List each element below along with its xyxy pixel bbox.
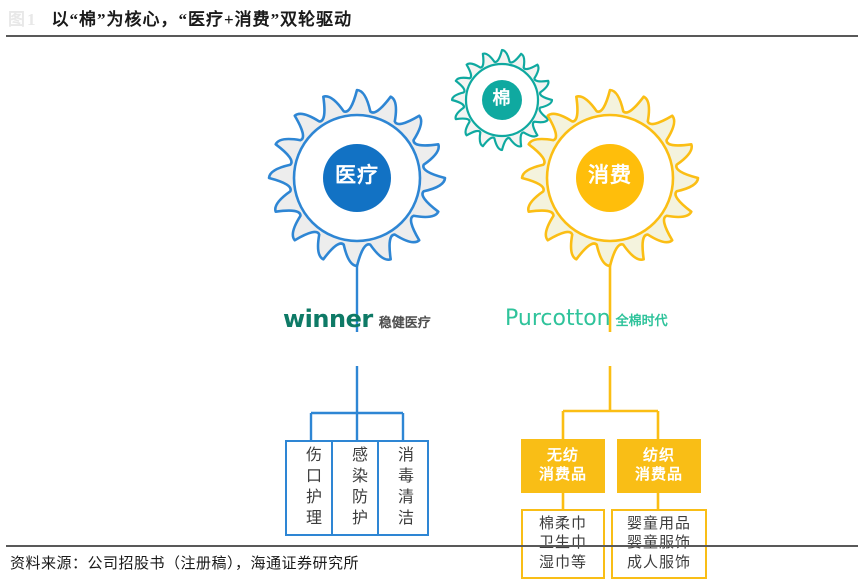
gear-consumer-hub — [576, 144, 644, 212]
brand-purcotton-en: Purcotton — [505, 306, 611, 331]
gear-medical — [269, 90, 445, 266]
medical-branch-label-3: 消毒清洁 — [395, 446, 411, 530]
gear-cotton — [452, 50, 552, 150]
page-title: 以“棉”为核心，“医疗+消费”双轮驱动 — [52, 5, 353, 30]
consumer-category-head-1-line2: 消费品 — [539, 466, 587, 485]
source-note: 资料来源：公司招股书（注册稿），海通证券研究所 — [10, 552, 359, 573]
connector-medical-tree — [311, 366, 403, 440]
consumer-item-2-1: 婴童用品 — [627, 515, 691, 535]
medical-branch-label-1: 伤口护理 — [303, 446, 319, 530]
consumer-items-box-2[interactable]: 婴童用品 婴童服饰 成人服饰 — [611, 509, 707, 579]
consumer-category-head-2-line2: 消费品 — [635, 466, 683, 485]
gear-consumer — [522, 90, 698, 266]
medical-branch-box-2[interactable]: 感染防护 — [331, 440, 383, 536]
consumer-item-1-3: 湿巾等 — [539, 554, 587, 574]
figure-number: 图1 — [8, 5, 38, 30]
brand-winner-en: winner — [283, 305, 373, 333]
brand-purcotton-logo: Purcotton 全棉时代 — [505, 306, 668, 331]
figure-header: 图1 以“棉”为核心，“医疗+消费”双轮驱动 — [0, 0, 864, 34]
medical-branch-box-1[interactable]: 伤口护理 — [285, 440, 337, 536]
footer-divider — [6, 545, 858, 547]
strategy-diagram — [0, 36, 864, 544]
brand-winner-cn: 稳健医疗 — [379, 312, 431, 331]
brand-winner-logo: winner 稳健医疗 — [283, 305, 431, 333]
consumer-item-1-1: 棉柔巾 — [539, 515, 587, 535]
consumer-items-box-1[interactable]: 棉柔巾 卫生巾 湿巾等 — [521, 509, 605, 579]
medical-branch-box-3[interactable]: 消毒清洁 — [377, 440, 429, 536]
consumer-item-2-3: 成人服饰 — [627, 554, 691, 574]
consumer-item-1-2: 卫生巾 — [539, 534, 587, 554]
consumer-item-2-2: 婴童服饰 — [627, 534, 691, 554]
gear-cotton-hub — [482, 80, 522, 120]
medical-branch-label-2: 感染防护 — [349, 446, 365, 530]
consumer-category-head-2-line1: 纺织 — [643, 447, 675, 466]
consumer-category-head-1-line1: 无纺 — [547, 447, 579, 466]
consumer-category-head-1[interactable]: 无纺 消费品 — [521, 439, 605, 493]
consumer-category-head-2[interactable]: 纺织 消费品 — [617, 439, 701, 493]
gear-medical-hub — [323, 144, 391, 212]
brand-purcotton-cn: 全棉时代 — [616, 310, 668, 329]
